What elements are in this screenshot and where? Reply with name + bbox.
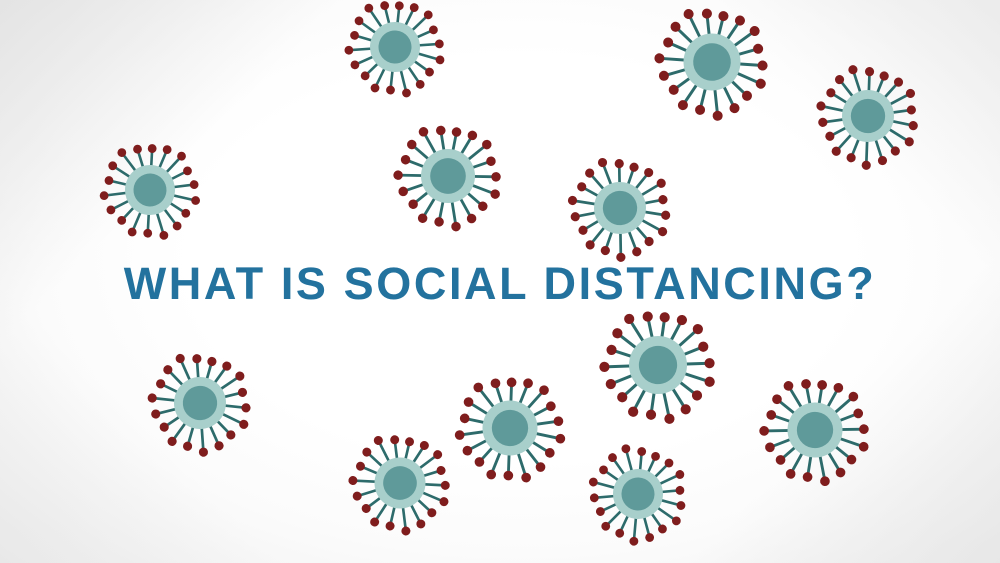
virus-particle-icon [386, 114, 510, 238]
virus-particle-icon [140, 343, 260, 463]
virus-particle-icon [808, 56, 928, 176]
virus-particle-icon [560, 148, 680, 268]
title-container: WHAT IS SOCIAL DISTANCING? [0, 252, 1000, 314]
slide-canvas: WHAT IS SOCIAL DISTANCING? [0, 0, 1000, 563]
virus-particle-icon [447, 365, 574, 492]
virus-particle-icon [581, 437, 696, 552]
virus-particle-icon [752, 367, 879, 494]
virus-particle-icon [338, 0, 453, 105]
page-title: WHAT IS SOCIAL DISTANCING? [124, 261, 877, 306]
virus-particle-icon [341, 424, 458, 541]
virus-particle-icon [591, 298, 724, 431]
virus-particle-icon [93, 133, 208, 248]
virus-particle-icon [646, 0, 777, 128]
